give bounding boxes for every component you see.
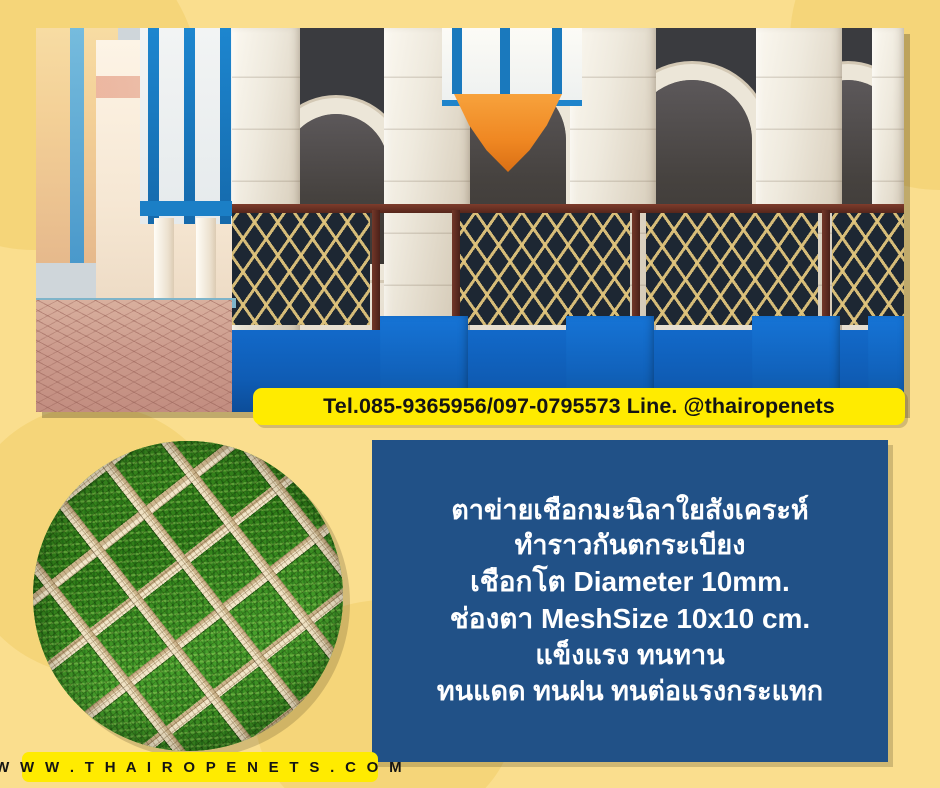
info-line-product-name: ตาข่ายเชือกมะนิลาใยสังเคระห์: [451, 493, 808, 529]
photo-vignette: [33, 441, 343, 751]
railing-post: [452, 210, 460, 330]
railing-band: [232, 204, 904, 332]
railing-handrail: [232, 204, 904, 213]
product-info-panel: ตาข่ายเชือกมะนิลาใยสังเคระห์ ทำราวกันตกร…: [372, 440, 888, 762]
rope-net-panel: [646, 213, 818, 325]
railing-post: [822, 210, 830, 330]
balcony-net-photo: [36, 28, 904, 412]
brick-walkway: [36, 300, 232, 412]
website-banner[interactable]: W W W . T H A I R O P E N E T S . C O M: [22, 752, 378, 782]
stone-facade: [232, 28, 904, 412]
rope-net-panel: [232, 213, 370, 325]
website-url-text: W W W . T H A I R O P E N E T S . C O M: [0, 759, 405, 776]
info-line-strength: แข็งแรง ทนทาน: [535, 638, 724, 674]
info-line-application: ทำราวกันตกระเบียง: [515, 528, 746, 564]
promotional-poster: Tel.085-9365956/097-0795573 Line. @thair…: [0, 0, 940, 788]
info-line-rope-diameter: เชือกโต Diameter 10mm.: [470, 564, 790, 601]
rope-net-panel: [460, 213, 630, 325]
photo-scene: [36, 28, 904, 412]
rope-net-closeup-photo: [33, 441, 343, 751]
contact-banner[interactable]: Tel.085-9365956/097-0795573 Line. @thair…: [253, 388, 905, 425]
rope-net-panel: [832, 213, 904, 325]
railing-post: [632, 210, 640, 330]
railing-post: [372, 210, 380, 330]
info-line-durability: ทนแดด ทนฝน ทนต่อแรงกระแทก: [437, 674, 823, 710]
contact-text: Tel.085-9365956/097-0795573 Line. @thair…: [323, 394, 835, 419]
info-line-mesh-size: ช่องตา MeshSize 10x10 cm.: [450, 601, 810, 638]
